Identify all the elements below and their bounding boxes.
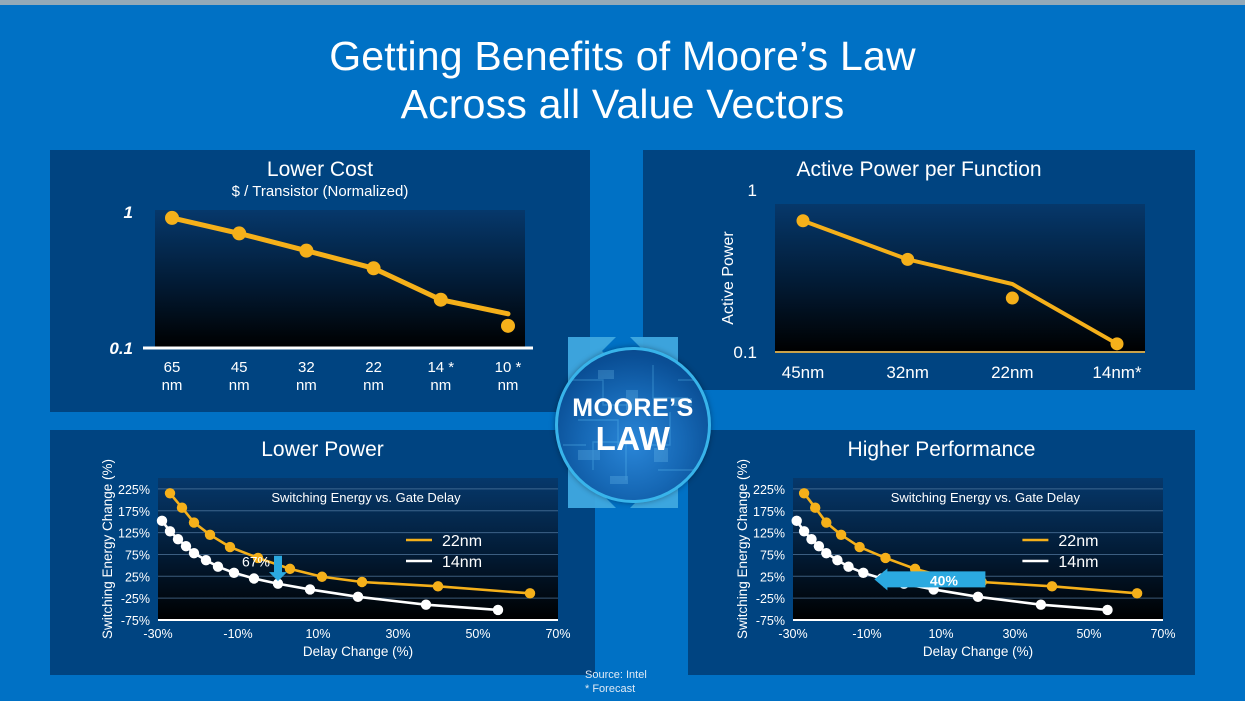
data-point xyxy=(525,588,535,598)
data-point xyxy=(901,253,914,266)
footer-note: Source: Intel * Forecast xyxy=(585,668,647,696)
y-tick-label: -25% xyxy=(756,592,785,606)
y-tick-label: -25% xyxy=(121,592,150,606)
data-point xyxy=(854,542,864,552)
data-point xyxy=(165,211,179,225)
data-point xyxy=(205,530,215,540)
data-point xyxy=(353,592,363,602)
chart-panel-higher-performance: Higher Performance 225%175%125%75%25%-25… xyxy=(688,430,1195,675)
x-tick-unit: nm xyxy=(229,377,250,394)
annotation-label: 40% xyxy=(930,572,959,588)
data-point xyxy=(173,534,183,544)
y-axis-label: Active Power xyxy=(720,231,737,325)
data-point xyxy=(189,548,199,558)
data-point xyxy=(225,542,235,552)
chart-subtitle: Switching Energy vs. Gate Delay xyxy=(271,490,461,505)
data-point xyxy=(229,568,239,578)
plot-area xyxy=(155,210,525,348)
y-tick-label: 25% xyxy=(760,570,785,584)
data-point xyxy=(421,600,431,610)
x-tick-unit: nm xyxy=(363,377,384,394)
data-point xyxy=(821,517,831,527)
badge-line2: LAW xyxy=(596,422,671,456)
y-tick-label: 125% xyxy=(118,527,150,541)
annotation-arrow-shaft xyxy=(274,556,282,573)
data-point xyxy=(1111,337,1124,350)
x-tick-label: 10% xyxy=(305,627,330,641)
chart-title-active-power: Active Power per Function xyxy=(643,150,1195,182)
x-tick-unit: nm xyxy=(162,377,183,394)
data-point xyxy=(189,517,199,527)
moores-law-badge: MOORE’S LAW xyxy=(498,325,748,520)
data-point xyxy=(249,573,259,583)
x-axis-label: Delay Change (%) xyxy=(303,644,413,659)
x-tick-label: -30% xyxy=(143,627,172,641)
data-point xyxy=(299,244,313,258)
data-point xyxy=(177,503,187,513)
y-tick-label: 225% xyxy=(753,483,785,497)
data-point xyxy=(165,488,175,498)
y-tick-label: 175% xyxy=(753,505,785,519)
legend-label-22nm: 22nm xyxy=(442,533,482,550)
data-point xyxy=(973,592,983,602)
y-tick-label: -75% xyxy=(121,614,150,628)
x-tick-label: 32 xyxy=(298,359,315,376)
data-point xyxy=(232,226,246,240)
chart-subtitle-lower-cost: $ / Transistor (Normalized) xyxy=(50,182,590,200)
legend-label-22nm: 22nm xyxy=(1058,533,1098,550)
chart-subtitle: Switching Energy vs. Gate Delay xyxy=(891,490,1081,505)
data-point xyxy=(843,561,853,571)
data-point xyxy=(799,526,809,536)
data-point xyxy=(836,530,846,540)
data-point xyxy=(1047,581,1057,591)
badge-circle: MOORE’S LAW xyxy=(555,347,711,503)
x-tick-label: 22nm xyxy=(991,363,1034,382)
footer-forecast: * Forecast xyxy=(585,682,647,696)
footer-source: Source: Intel xyxy=(585,668,647,682)
data-point xyxy=(157,516,167,526)
data-point xyxy=(797,214,810,227)
data-point xyxy=(858,568,868,578)
data-point xyxy=(433,581,443,591)
x-tick-label: 70% xyxy=(1150,627,1175,641)
data-point xyxy=(213,561,223,571)
y-tick-top: 1 xyxy=(748,181,757,200)
data-point xyxy=(880,553,890,563)
x-tick-label: 14 * xyxy=(427,359,454,376)
x-tick-label: 65 xyxy=(164,359,181,376)
y-tick-label: 75% xyxy=(760,548,785,562)
x-tick-label: 50% xyxy=(1076,627,1101,641)
x-tick-label: 45 xyxy=(231,359,248,376)
data-point xyxy=(1006,292,1019,305)
x-tick-label: 70% xyxy=(545,627,570,641)
data-point xyxy=(1102,605,1112,615)
x-tick-label: 30% xyxy=(385,627,410,641)
y-axis-label: Switching Energy Change (%) xyxy=(100,459,115,639)
y-tick-label: 75% xyxy=(125,548,150,562)
x-tick-label: 32nm xyxy=(886,363,929,382)
data-point xyxy=(181,541,191,551)
data-point xyxy=(493,605,503,615)
y-tick-bottom: 0.1 xyxy=(109,339,133,358)
legend-label-14nm: 14nm xyxy=(1058,554,1098,571)
x-tick-label: 10% xyxy=(928,627,953,641)
data-point xyxy=(434,293,448,307)
data-point xyxy=(821,548,831,558)
legend-label-14nm: 14nm xyxy=(442,554,482,571)
data-point xyxy=(1132,588,1142,598)
data-point xyxy=(305,584,315,594)
data-point xyxy=(799,488,809,498)
y-tick-label: -75% xyxy=(756,614,785,628)
data-point xyxy=(165,526,175,536)
data-point xyxy=(1036,600,1046,610)
x-tick-unit: nm xyxy=(430,377,451,394)
x-tick-label: 50% xyxy=(465,627,490,641)
page-title-line2: Across all Value Vectors xyxy=(0,80,1245,128)
x-tick-label: 30% xyxy=(1002,627,1027,641)
data-point xyxy=(201,555,211,565)
badge-text: MOORE’S LAW xyxy=(558,350,708,500)
page-title-line1: Getting Benefits of Moore’s Law xyxy=(329,33,916,79)
data-point xyxy=(367,261,381,275)
annotation-label: 67% xyxy=(242,553,270,569)
y-tick-label: 225% xyxy=(118,483,150,497)
y-tick-label: 175% xyxy=(118,505,150,519)
x-tick-label: 14nm* xyxy=(1092,363,1142,382)
x-tick-label: -30% xyxy=(778,627,807,641)
chart-title-higher-performance: Higher Performance xyxy=(688,430,1195,462)
chart-higher-performance: 225%175%125%75%25%-25%-75%-30%-10%10%30%… xyxy=(688,462,1195,677)
chart-title-lower-cost: Lower Cost xyxy=(50,150,590,182)
y-tick-label: 25% xyxy=(125,570,150,584)
x-tick-unit: nm xyxy=(296,377,317,394)
x-tick-label: -10% xyxy=(223,627,252,641)
data-point xyxy=(357,577,367,587)
data-point xyxy=(832,555,842,565)
x-axis-label: Delay Change (%) xyxy=(923,644,1033,659)
y-tick-top: 1 xyxy=(124,203,133,222)
top-border-strip xyxy=(0,0,1245,5)
y-tick-label: 125% xyxy=(753,527,785,541)
x-tick-label: 45nm xyxy=(782,363,825,382)
page-title: Getting Benefits of Moore’s Law Across a… xyxy=(0,32,1245,128)
data-point xyxy=(792,516,802,526)
x-tick-label: -10% xyxy=(852,627,881,641)
x-tick-label: 22 xyxy=(365,359,382,376)
data-point xyxy=(317,572,327,582)
badge-line1: MOORE’S xyxy=(572,395,694,422)
data-point xyxy=(810,503,820,513)
